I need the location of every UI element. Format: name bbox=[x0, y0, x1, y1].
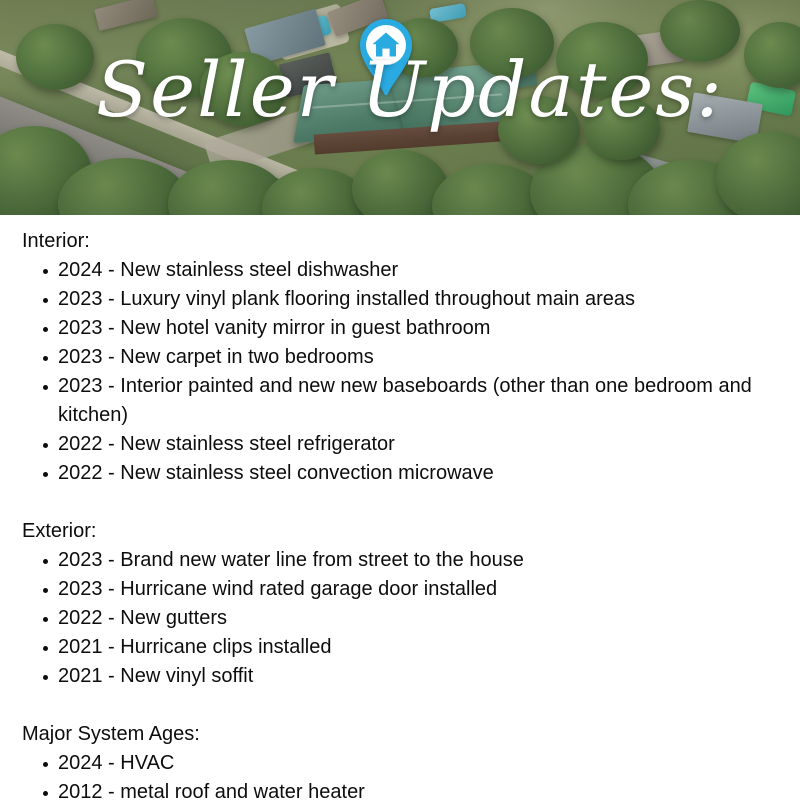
hero-banner: Seller Updates: bbox=[0, 0, 800, 215]
seller-updates-flyer: Seller Updates: Interior:2024 - New stai… bbox=[0, 0, 800, 800]
list-item: 2023 - New hotel vanity mirror in guest … bbox=[22, 314, 786, 343]
update-list: 2024 - HVAC2012 - metal roof and water h… bbox=[22, 749, 786, 800]
list-item: 2022 - New stainless steel refrigerator bbox=[22, 430, 786, 459]
section-major-system-ages: Major System Ages:2024 - HVAC2012 - meta… bbox=[22, 720, 786, 800]
update-list: 2024 - New stainless steel dishwasher202… bbox=[22, 256, 786, 488]
section-heading: Major System Ages: bbox=[22, 720, 786, 749]
list-item: 2023 - Brand new water line from street … bbox=[22, 546, 786, 575]
list-item: 2022 - New gutters bbox=[22, 604, 786, 633]
list-item: 2023 - Interior painted and new new base… bbox=[22, 372, 786, 430]
list-item: 2021 - New vinyl soffit bbox=[22, 662, 786, 691]
section-heading: Interior: bbox=[22, 227, 786, 256]
list-item: 2024 - HVAC bbox=[22, 749, 786, 778]
list-item: 2023 - Luxury vinyl plank flooring insta… bbox=[22, 285, 786, 314]
list-item: 2022 - New stainless steel convection mi… bbox=[22, 459, 786, 488]
section-heading: Exterior: bbox=[22, 517, 786, 546]
list-item: 2024 - New stainless steel dishwasher bbox=[22, 256, 786, 285]
updates-content: Interior:2024 - New stainless steel dish… bbox=[0, 215, 800, 800]
section-interior: Interior:2024 - New stainless steel dish… bbox=[22, 227, 786, 488]
list-item: 2021 - Hurricane clips installed bbox=[22, 633, 786, 662]
page-title: Seller Updates: bbox=[0, 52, 800, 128]
list-item: 2012 - metal roof and water heater bbox=[22, 778, 786, 800]
section-exterior: Exterior:2023 - Brand new water line fro… bbox=[22, 517, 786, 691]
list-item: 2023 - Hurricane wind rated garage door … bbox=[22, 575, 786, 604]
update-list: 2023 - Brand new water line from street … bbox=[22, 546, 786, 691]
list-item: 2023 - New carpet in two bedrooms bbox=[22, 343, 786, 372]
